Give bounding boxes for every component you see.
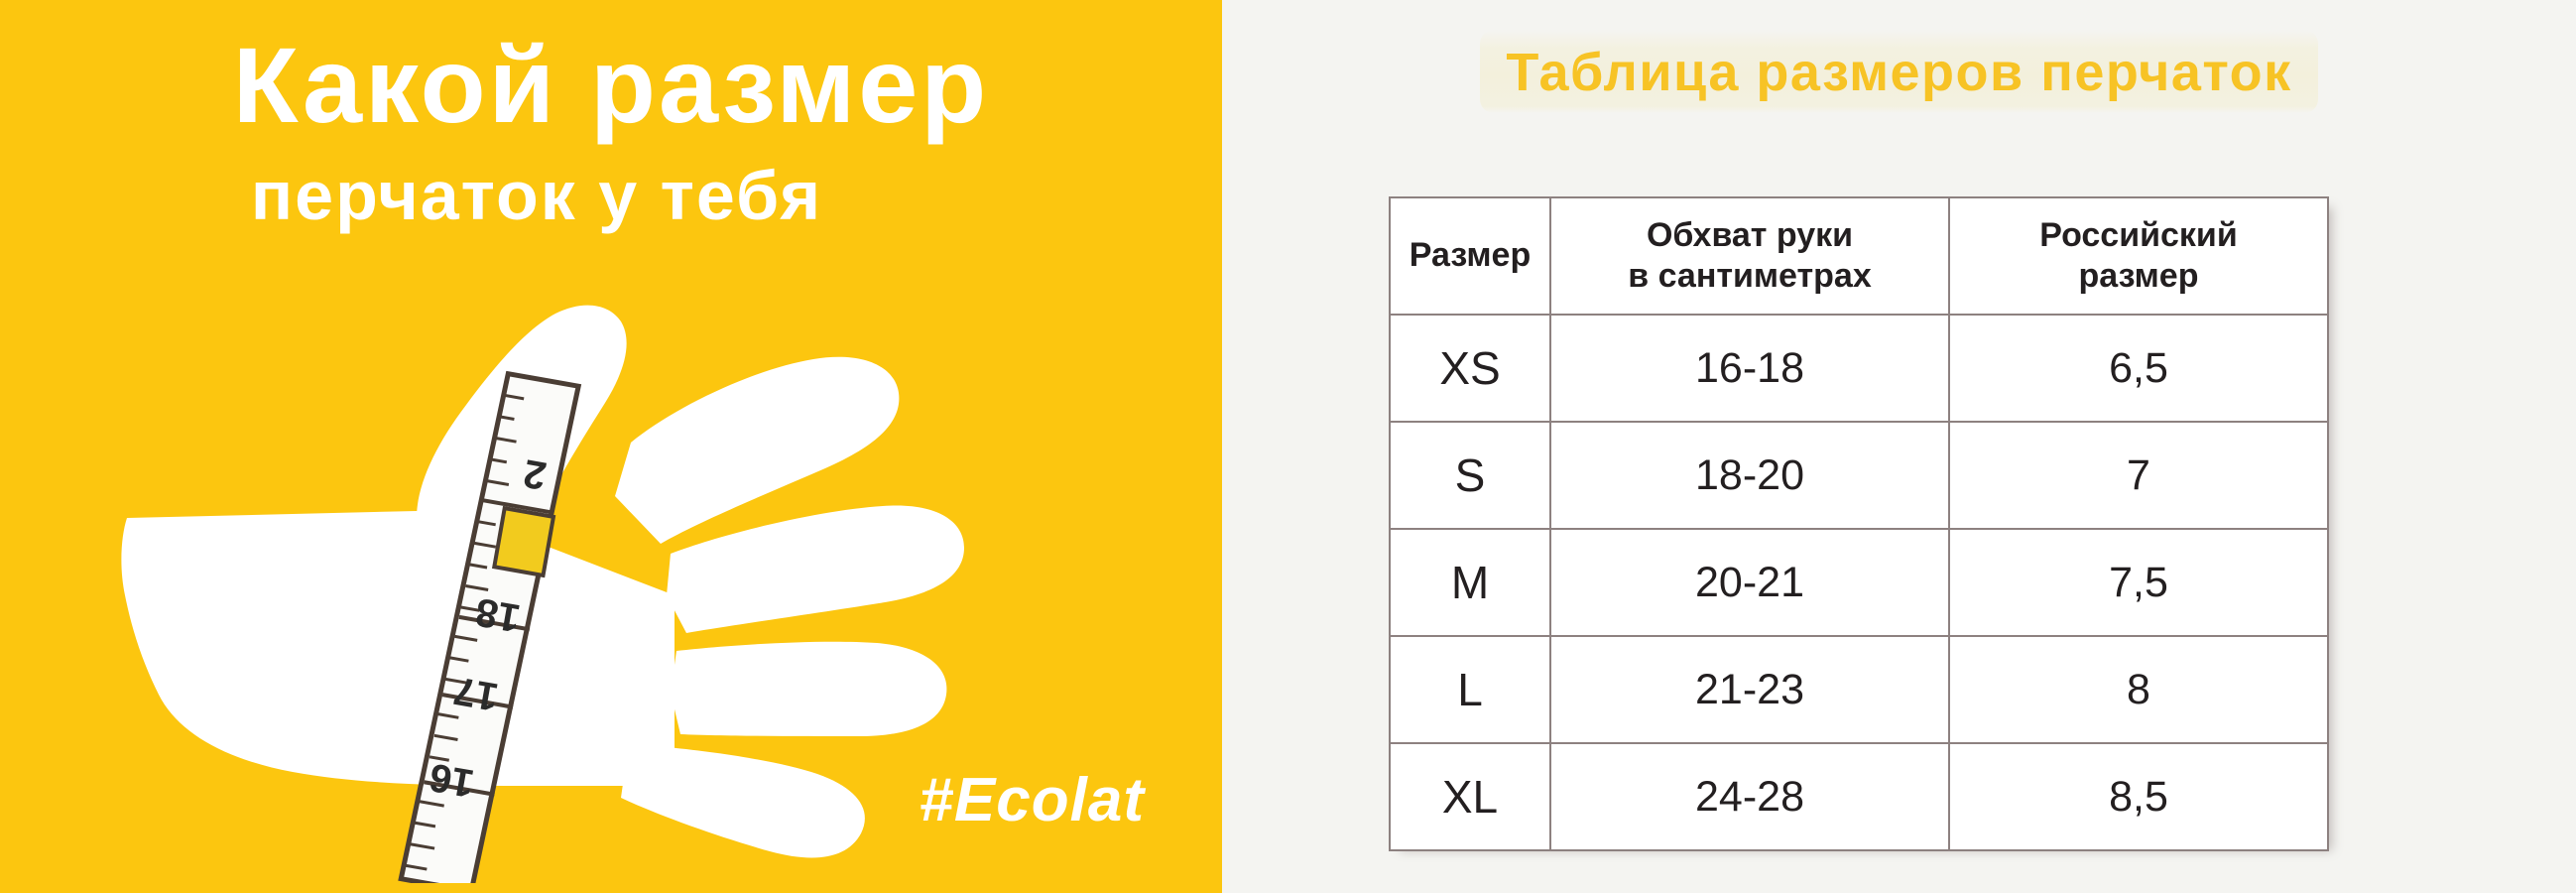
table-title-container: Таблица размеров перчаток [1222, 30, 2576, 113]
column-header-russian-size-line2: размер [1950, 256, 2327, 297]
column-header-circumference: Обхват руки в сантиметрах [1550, 197, 1949, 315]
cell-russian-size: 8,5 [1949, 743, 2328, 850]
table-head: Размер Обхват руки в сантиметрах Российс… [1390, 197, 2328, 315]
column-header-russian-size-line1: Российский [1950, 215, 2327, 256]
table-panel: Таблица размеров перчаток Размер Обхват … [1222, 0, 2576, 893]
headline: Какой размер перчаток у тебя [0, 28, 1222, 234]
table-row: S 18-20 7 [1390, 422, 2328, 529]
table-row: XS 16-18 6,5 [1390, 315, 2328, 422]
cell-size: S [1390, 422, 1550, 529]
table-body: XS 16-18 6,5 S 18-20 7 M 20-21 7,5 L 21-… [1390, 315, 2328, 850]
cell-russian-size: 7 [1949, 422, 2328, 529]
table-title: Таблица размеров перчаток [1480, 30, 2317, 113]
cell-circumference: 18-20 [1550, 422, 1949, 529]
table-header-row: Размер Обхват руки в сантиметрах Российс… [1390, 197, 2328, 315]
yellow-panel: Какой размер перчаток у тебя [0, 0, 1222, 893]
svg-text:18: 18 [472, 589, 523, 640]
cell-circumference: 16-18 [1550, 315, 1949, 422]
cell-russian-size: 6,5 [1949, 315, 2328, 422]
cell-size: L [1390, 636, 1550, 743]
column-header-circumference-line2: в сантиметрах [1551, 256, 1948, 297]
brand-hashtag: #Ecolat [919, 765, 1145, 835]
cell-russian-size: 7,5 [1949, 529, 2328, 636]
cell-circumference: 20-21 [1550, 529, 1949, 636]
column-header-russian-size: Российский размер [1949, 197, 2328, 315]
cell-size: XS [1390, 315, 1550, 422]
headline-line-1: Какой размер [0, 28, 1222, 144]
svg-text:17: 17 [450, 668, 501, 718]
column-header-size: Размер [1390, 197, 1550, 315]
table-row: M 20-21 7,5 [1390, 529, 2328, 636]
table-row: XL 24-28 8,5 [1390, 743, 2328, 850]
cell-russian-size: 8 [1949, 636, 2328, 743]
glove-size-table: Размер Обхват руки в сантиметрах Российс… [1389, 196, 2329, 851]
cell-circumference: 24-28 [1550, 743, 1949, 850]
svg-text:16: 16 [427, 755, 477, 806]
size-guide-banner: Какой размер перчаток у тебя [0, 0, 2576, 893]
headline-line-2: перчаток у тебя [0, 158, 1222, 234]
cell-size: XL [1390, 743, 1550, 850]
column-header-circumference-line1: Обхват руки [1551, 215, 1948, 256]
cell-circumference: 21-23 [1550, 636, 1949, 743]
table-row: L 21-23 8 [1390, 636, 2328, 743]
cell-size: M [1390, 529, 1550, 636]
column-header-size-line1: Размер [1391, 235, 1549, 276]
